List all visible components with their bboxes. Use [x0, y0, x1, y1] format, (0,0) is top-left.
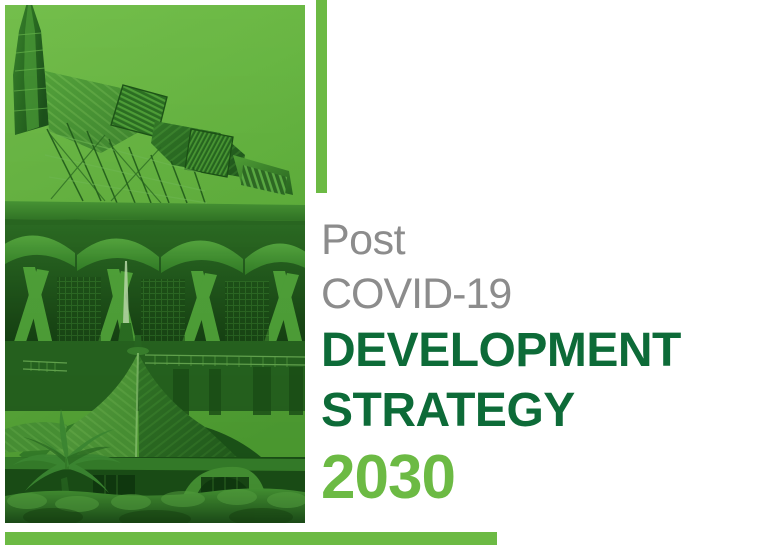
photo-artwork — [5, 5, 305, 523]
accent-bar-bottom — [5, 532, 497, 545]
headline-line-strategy: STRATEGY — [321, 380, 751, 442]
cover-photo — [5, 5, 305, 523]
eyebrow-line-post: Post — [321, 214, 751, 266]
headline-year: 2030 — [321, 442, 751, 514]
report-cover: Post COVID-19 DEVELOPMENT STRATEGY 2030 — [0, 0, 761, 549]
accent-bar-vertical — [316, 0, 327, 193]
headline-line-development: DEVELOPMENT — [321, 322, 751, 380]
eyebrow-line-covid: COVID-19 — [321, 266, 751, 322]
cover-title-block: Post COVID-19 DEVELOPMENT STRATEGY 2030 — [321, 214, 751, 514]
